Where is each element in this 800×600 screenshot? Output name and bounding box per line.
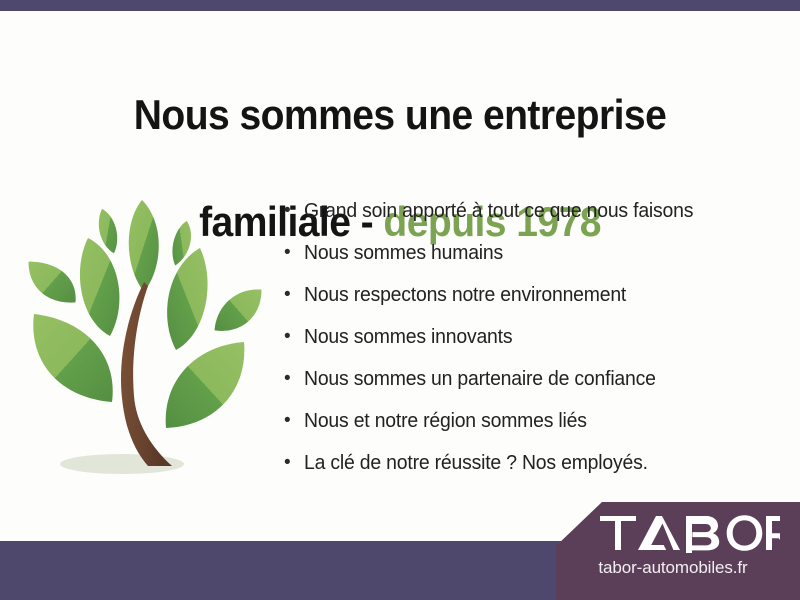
list-item-label: Nous sommes humains xyxy=(304,232,503,274)
tabor-wordmark-svg xyxy=(600,512,780,554)
list-item-label: Grand soin apporté à tout ce que nous fa… xyxy=(304,190,693,232)
top-frame-band xyxy=(0,0,800,11)
list-item: • La clé de notre réussite ? Nos employé… xyxy=(284,442,784,484)
list-item-label: La clé de notre réussite ? Nos employés. xyxy=(304,442,648,484)
bullet-marker-icon: • xyxy=(284,232,304,274)
bullet-marker-icon: • xyxy=(284,358,304,400)
bullet-marker-icon: • xyxy=(284,274,304,316)
list-item-label: Nous sommes un partenaire de confiance xyxy=(304,358,656,400)
list-item: • Nous sommes innovants xyxy=(284,316,784,358)
list-item: • Nous et notre région sommes liés xyxy=(284,400,784,442)
list-item: • Nous sommes un partenaire de confiance xyxy=(284,358,784,400)
list-item-label: Nous sommes innovants xyxy=(304,316,512,358)
list-item: • Grand soin apporté à tout ce que nous … xyxy=(284,190,784,232)
list-item-label: Nous respectons notre environnement xyxy=(304,274,626,316)
value-bullet-list: • Grand soin apporté à tout ce que nous … xyxy=(284,190,784,484)
tree-leaves xyxy=(28,200,261,428)
brand-logo-inner: tabor-automobiles.fr xyxy=(556,502,800,600)
bullet-marker-icon: • xyxy=(284,400,304,442)
list-item: • Nous respectons notre environnement xyxy=(284,274,784,316)
headline-line-1: Nous sommes une entreprise xyxy=(28,88,772,142)
bullet-marker-icon: • xyxy=(284,316,304,358)
brand-logo-plate[interactable]: tabor-automobiles.fr xyxy=(556,502,800,600)
tree-illustration xyxy=(22,196,272,486)
list-item: • Nous sommes humains xyxy=(284,232,784,274)
slide-canvas: Nous sommes une entreprise familiale - d… xyxy=(0,0,800,600)
tree-illustration-svg xyxy=(22,196,272,486)
bullet-marker-icon: • xyxy=(284,190,304,232)
bullet-marker-icon: • xyxy=(284,442,304,484)
tabor-wordmark-logo xyxy=(600,512,780,554)
tree-trunk xyxy=(121,282,172,466)
brand-website-url[interactable]: tabor-automobiles.fr xyxy=(556,558,790,578)
list-item-label: Nous et notre région sommes liés xyxy=(304,400,587,442)
